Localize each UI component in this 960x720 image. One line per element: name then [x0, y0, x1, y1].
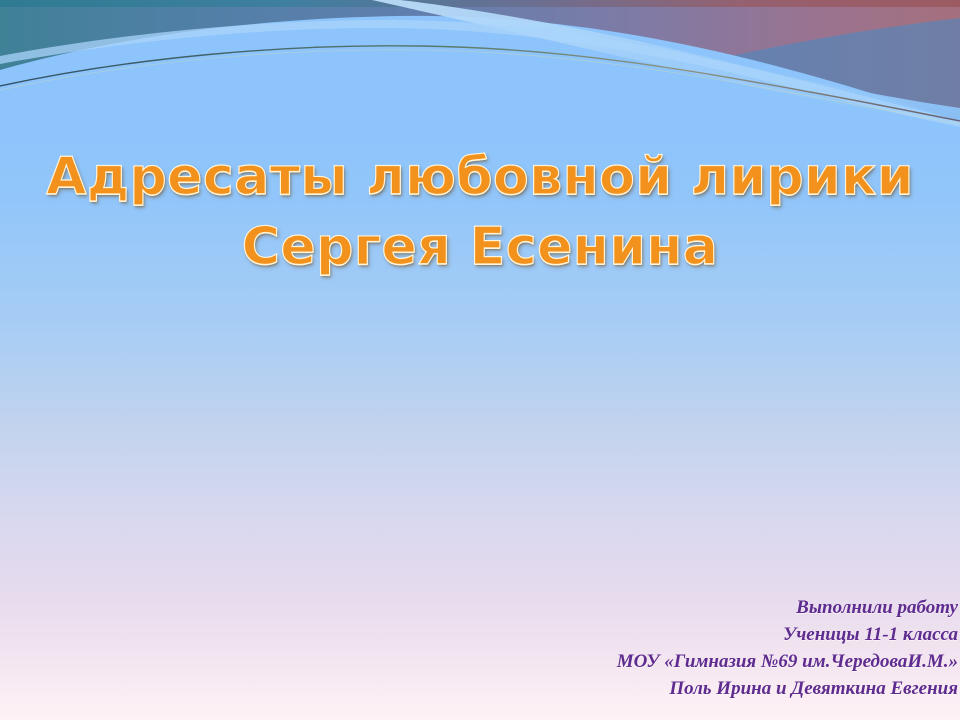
authors-line-3: МОУ «Гимназия №69 им.ЧередоваИ.М.»	[258, 648, 958, 675]
authors-line-4: Поль Ирина и Девяткина Евгения	[258, 675, 958, 702]
authors-block: Выполнили работу Ученицы 11-1 класса МОУ…	[258, 594, 958, 702]
decorative-wave-header	[0, 0, 960, 130]
presentation-slide: Адресаты любовной лирики Сергея Есенина …	[0, 0, 960, 720]
slide-title: Адресаты любовной лирики Сергея Есенина	[0, 146, 960, 278]
authors-line-1: Выполнили работу	[258, 594, 958, 621]
authors-line-2: Ученицы 11-1 класса	[258, 621, 958, 648]
title-line-2: Сергея Есенина	[0, 216, 960, 278]
title-line-1: Адресаты любовной лирики	[0, 146, 960, 208]
